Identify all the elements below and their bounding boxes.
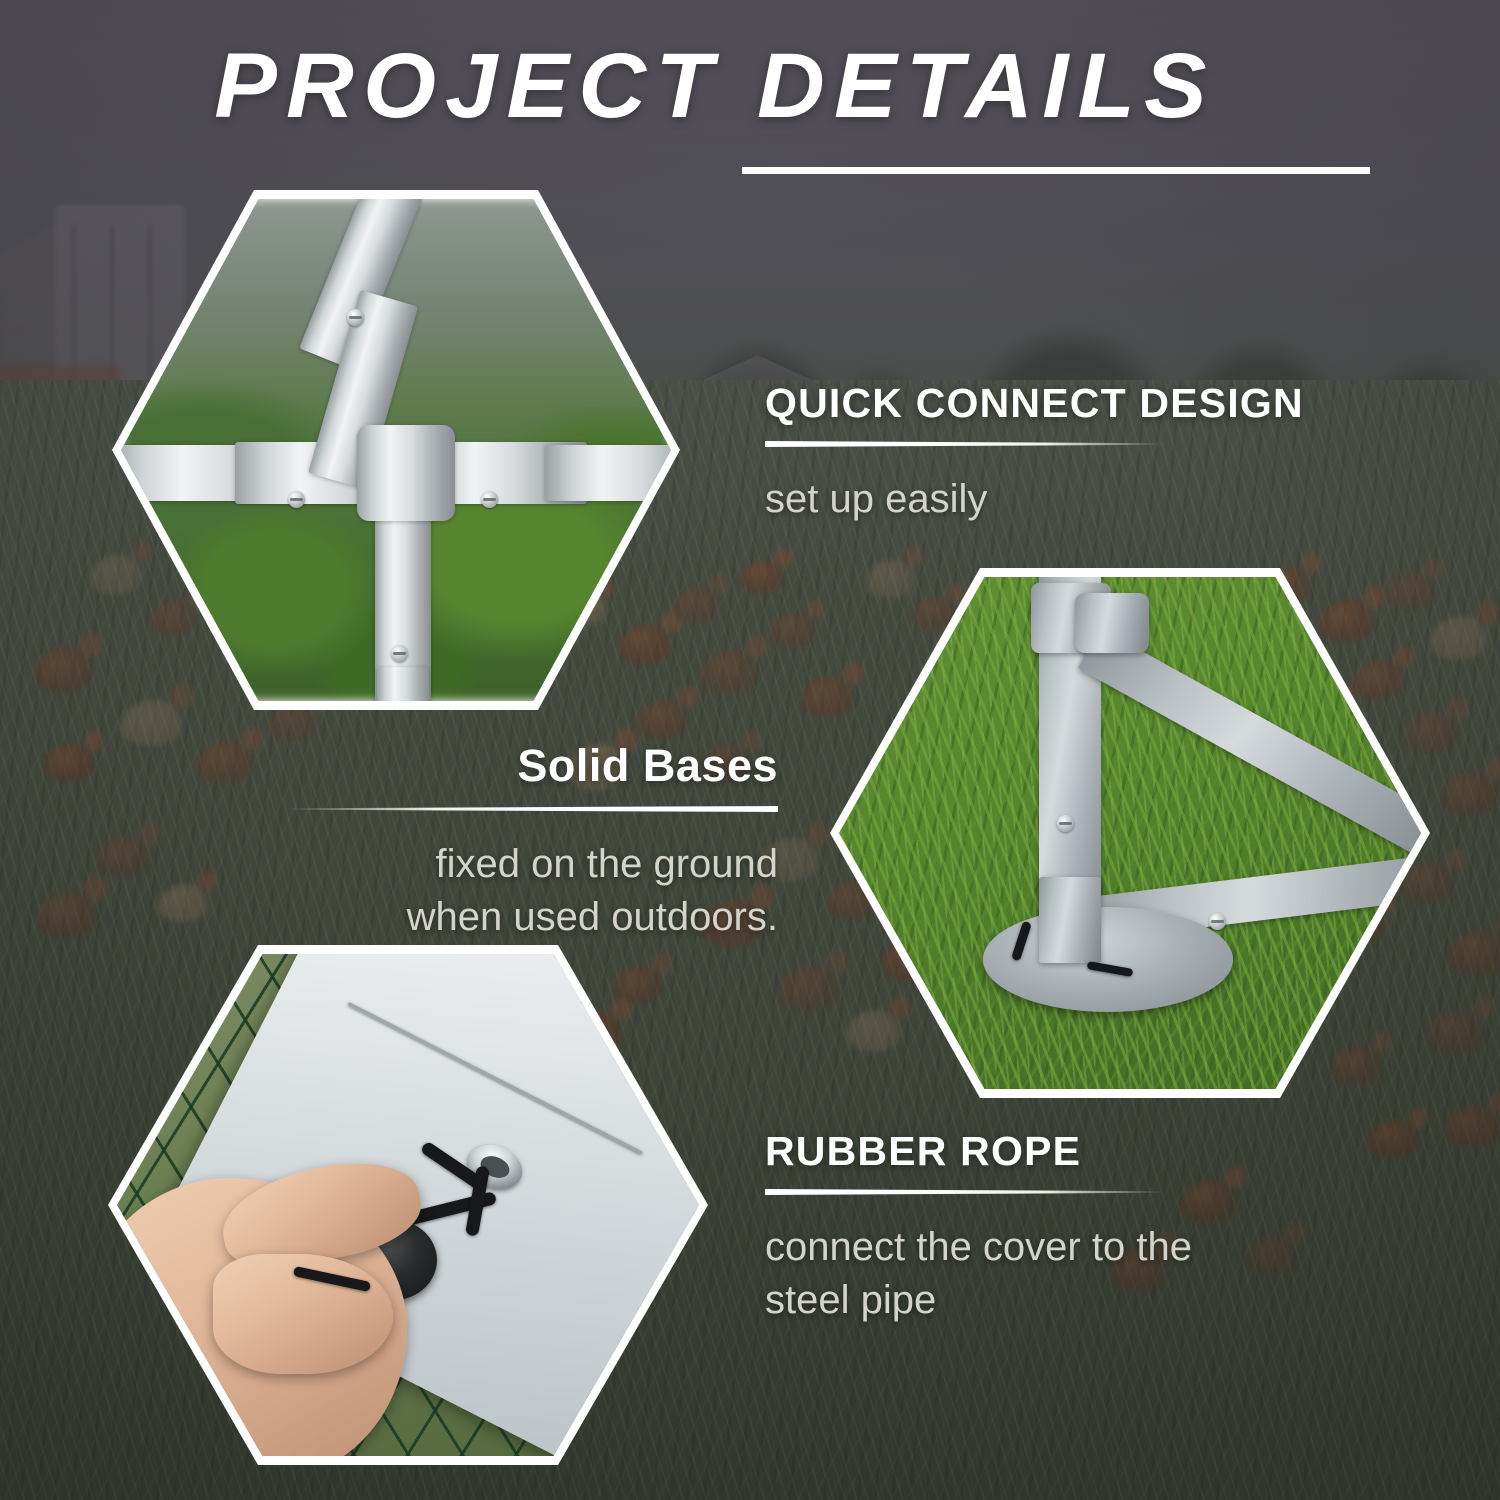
screw-icon — [1209, 913, 1226, 930]
feature-heading-underline — [765, 1189, 1165, 1195]
feature-text-rubber-rope: RUBBER ROPE connect the cover to thestee… — [765, 1128, 1385, 1327]
screw-icon — [1057, 815, 1074, 832]
feature-body: connect the cover to thesteel pipe — [765, 1221, 1385, 1327]
feature-body: fixed on the groundwhen used outdoors. — [286, 838, 778, 944]
page-title-underline — [742, 167, 1370, 174]
page-title: PROJECT DETAILS — [0, 38, 1444, 135]
screw-icon — [288, 491, 305, 508]
feature-body: set up easily — [765, 473, 1385, 526]
screw-icon — [391, 645, 408, 662]
screw-icon — [347, 309, 364, 326]
feature-image-solid-bases — [830, 568, 1430, 1098]
feature-text-solid-bases: Solid Bases fixed on the groundwhen used… — [286, 740, 778, 944]
feature-heading: Solid Bases — [286, 740, 778, 792]
feature-image-rubber-rope — [108, 945, 708, 1465]
feature-text-quick-connect-design: QUICK CONNECT DESIGN set up easily — [765, 380, 1385, 526]
feature-image-quick-connect-design — [112, 190, 680, 710]
feature-heading-underline — [765, 441, 1165, 447]
feature-heading: RUBBER ROPE — [765, 1128, 1385, 1175]
feature-heading: QUICK CONNECT DESIGN — [765, 380, 1385, 427]
screw-icon — [481, 491, 498, 508]
feature-heading-underline — [286, 806, 778, 812]
